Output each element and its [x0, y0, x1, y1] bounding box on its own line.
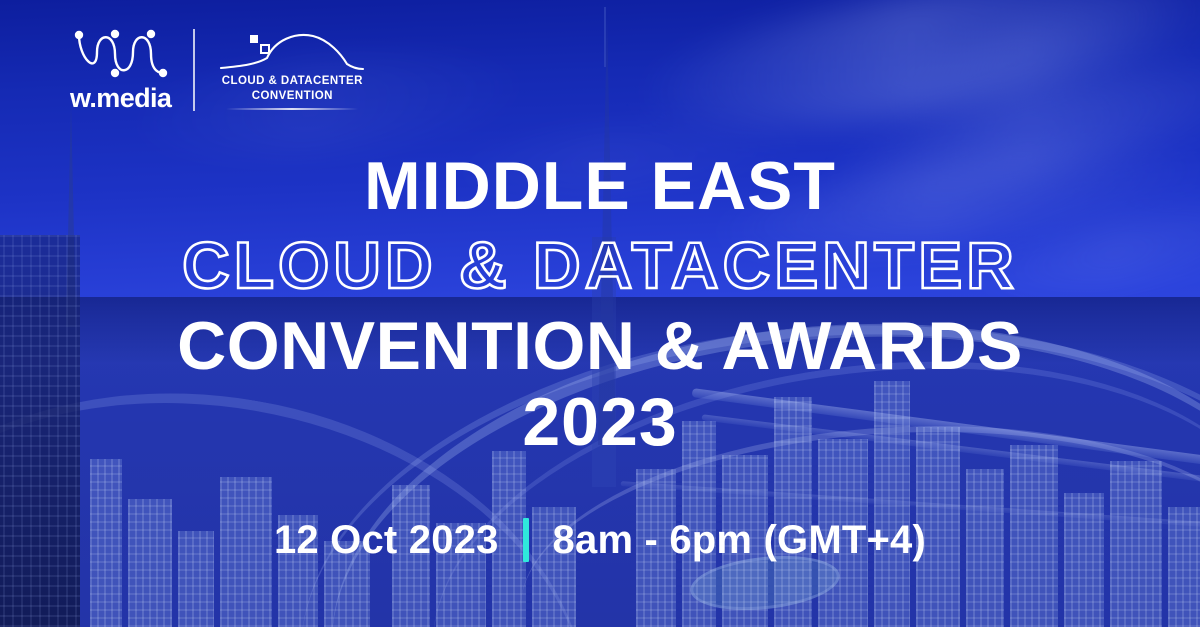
event-banner: w.media CLOUD & DATACENTER CONVENTION MI… — [0, 0, 1200, 627]
logo-bar: w.media CLOUD & DATACENTER CONVENTION — [70, 28, 367, 112]
cdc-wordmark-line1: CLOUD & DATACENTER — [222, 74, 363, 89]
cloud-arc-icon — [217, 30, 367, 72]
wmedia-wordmark: w.media — [70, 85, 171, 112]
wmedia-logo[interactable]: w.media — [70, 28, 171, 112]
headline-line-1: MIDDLE EAST — [0, 152, 1200, 220]
headline-line-3: CONVENTION & AWARDS — [0, 312, 1200, 380]
event-time: 8am - 6pm (GMT+4) — [553, 520, 926, 560]
logo-divider — [193, 29, 195, 111]
page-title: MIDDLE EAST CLOUD & DATACENTER CONVENTIO… — [0, 152, 1200, 456]
event-details: 12 Oct 2023 8am - 6pm (GMT+4) — [0, 518, 1200, 562]
burj-khalifa-needle — [604, 7, 606, 67]
wave-dots-icon — [71, 28, 171, 80]
cdc-wordmark: CLOUD & DATACENTER CONVENTION — [222, 74, 363, 103]
date-time-separator — [523, 518, 529, 562]
cdc-logo[interactable]: CLOUD & DATACENTER CONVENTION — [217, 30, 367, 110]
headline-line-2: CLOUD & DATACENTER — [0, 232, 1200, 298]
event-date: 12 Oct 2023 — [274, 520, 499, 560]
headline-line-4: 2023 — [0, 388, 1200, 456]
cdc-wordmark-line2: CONVENTION — [222, 89, 363, 104]
cdc-underline — [226, 108, 358, 110]
